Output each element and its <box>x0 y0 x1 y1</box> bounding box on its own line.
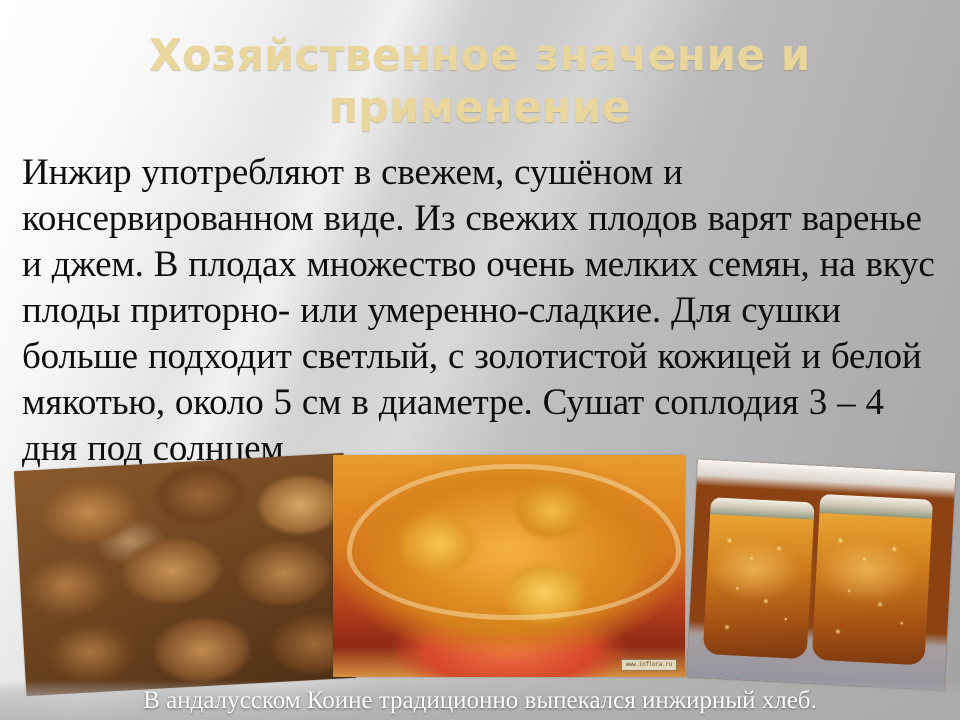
jar-contents <box>703 514 813 659</box>
jar-contents <box>811 512 932 665</box>
preserve-jar-left <box>703 497 814 659</box>
presentation-slide: Хозяйственное значение и применение Инжи… <box>0 0 960 720</box>
dried-figs-photo[interactable] <box>14 453 356 696</box>
dried-figs-artwork <box>14 453 356 696</box>
slide-caption: В андалусском Коине традиционно выпекалс… <box>0 686 960 716</box>
preserve-jar-right <box>811 494 933 665</box>
photo-watermark: www.inflora.ru <box>621 659 677 671</box>
fig-jam-bowl-photo[interactable]: www.inflora.ru <box>333 455 685 677</box>
image-strip: www.inflora.ru <box>0 0 960 720</box>
fig-preserves-jars-photo[interactable] <box>686 459 955 690</box>
